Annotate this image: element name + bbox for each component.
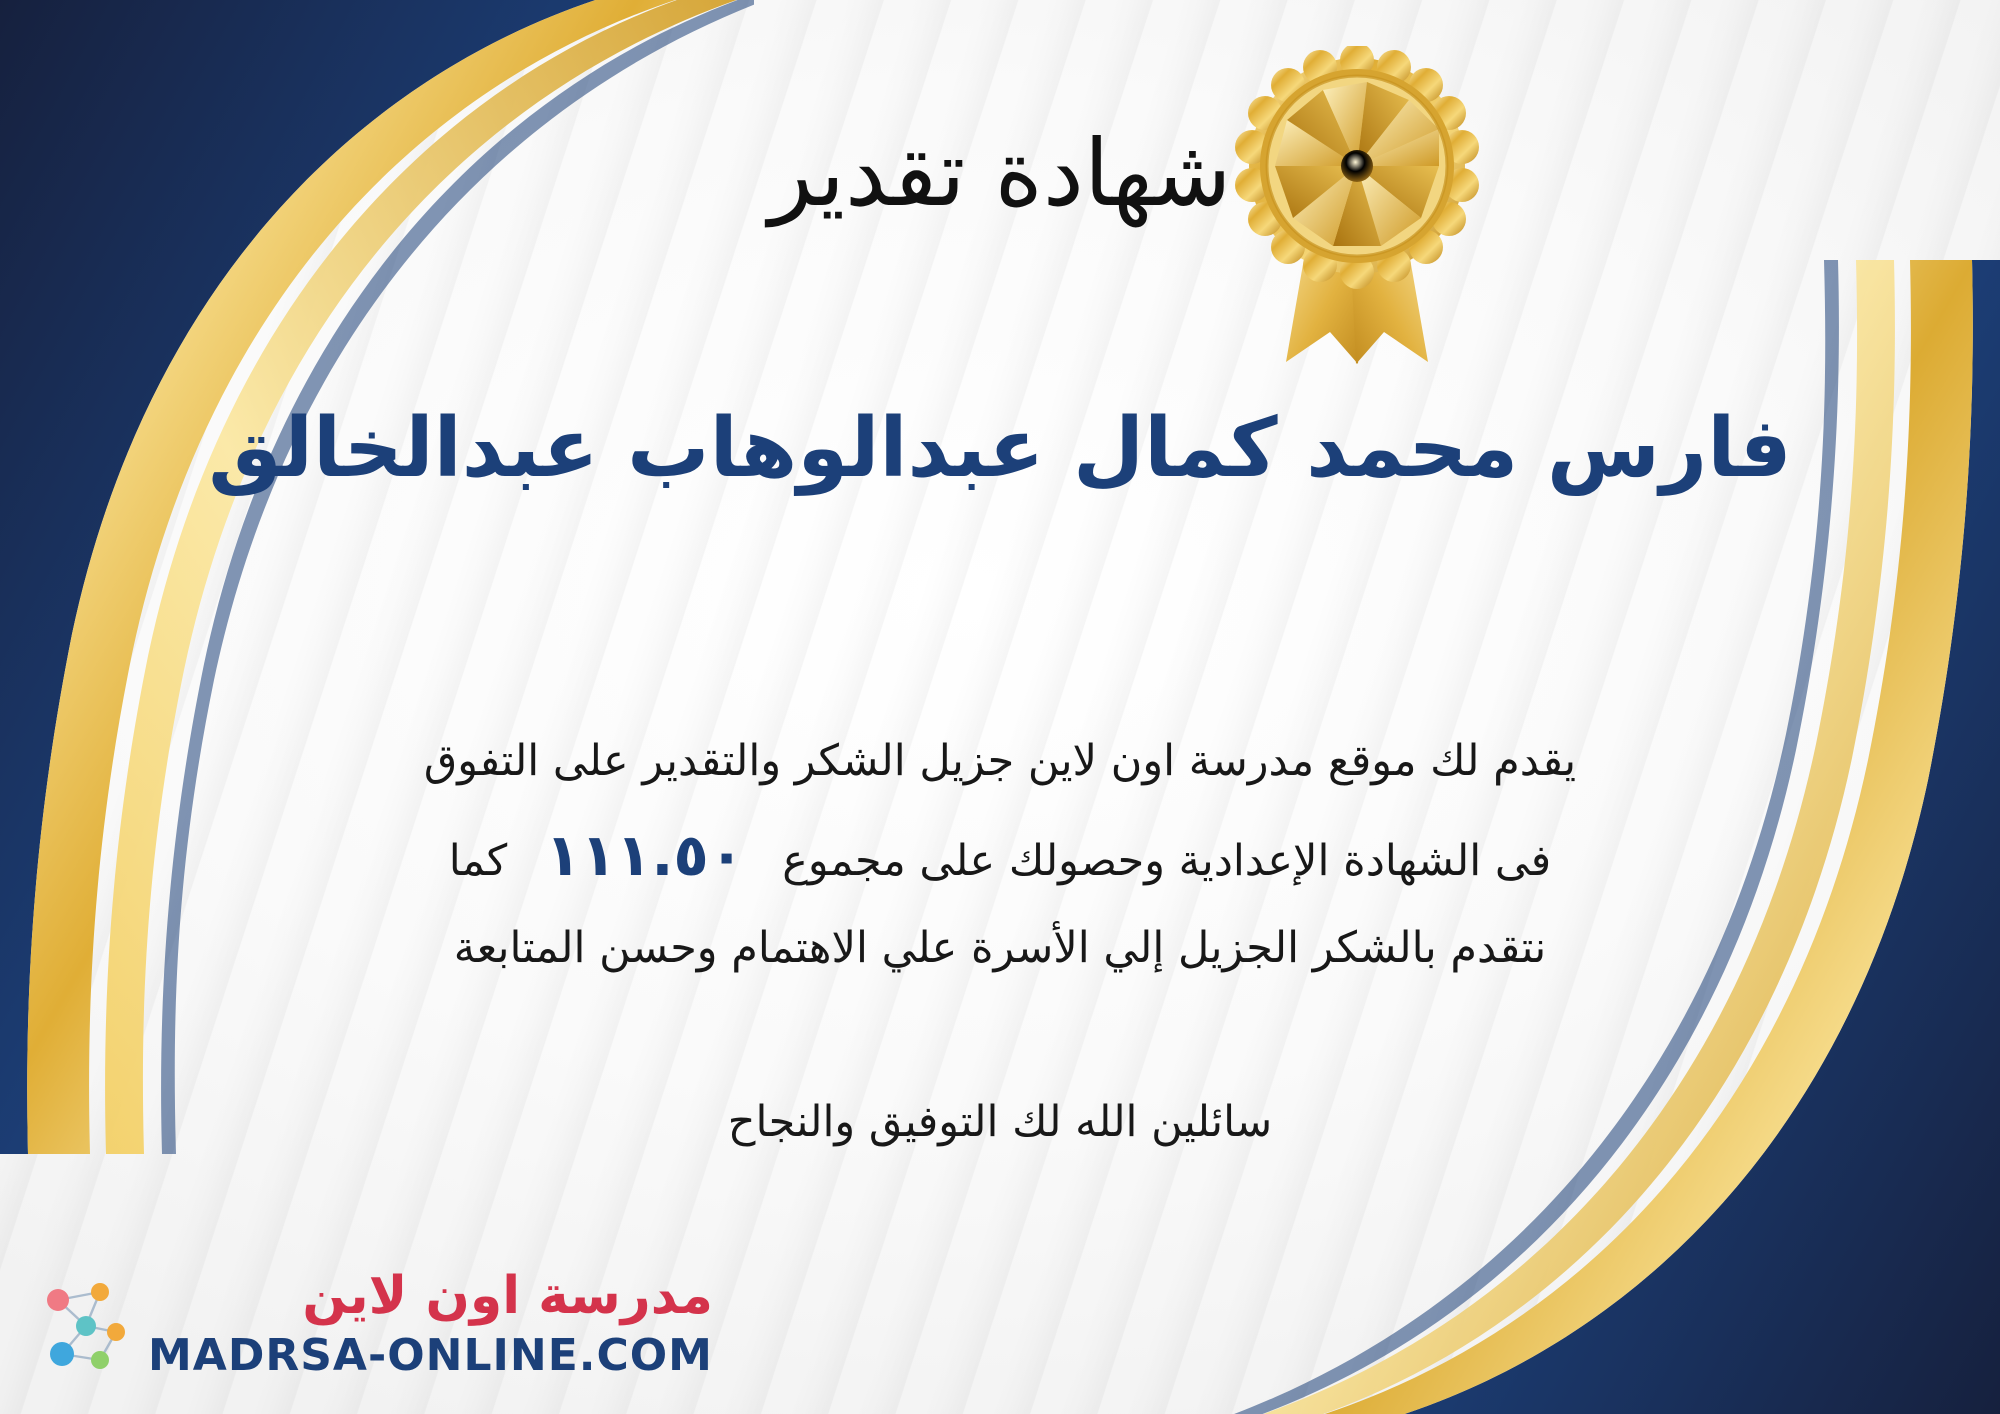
brand-text: مدرسة اون لاين MADRSA-ONLINE.COM xyxy=(148,1270,713,1378)
brand-name-arabic: مدرسة اون لاين xyxy=(302,1270,713,1322)
body-line-1: يقدم لك موقع مدرسة اون لاين جزيل الشكر و… xyxy=(210,722,1790,802)
network-nodes-icon xyxy=(28,1270,136,1378)
body-line-3: نتقدم بالشكر الجزيل إلي الأسرة علي الاهت… xyxy=(210,909,1790,989)
brand-logo[interactable]: مدرسة اون لاين MADRSA-ONLINE.COM xyxy=(28,1270,713,1378)
recipient-name: فارس محمد كمال عبدالوهاب عبدالخالق xyxy=(60,402,1940,496)
certificate-page: شهادة تقدير فارس محمد كمال عبدالوهاب عبد… xyxy=(0,0,2000,1414)
body-line-2: فى الشهادة الإعدادية وحصولك على مجموع ١١… xyxy=(210,802,1790,909)
body-line-2-left: كما xyxy=(449,822,507,902)
brand-domain: MADRSA-ONLINE.COM xyxy=(148,1334,713,1378)
page-title: شهادة تقدير xyxy=(0,122,2000,225)
body-line-2-right: فى الشهادة الإعدادية وحصولك على مجموع xyxy=(782,822,1551,902)
score-value: ١١١.٥٠ xyxy=(507,802,782,909)
closing-line: سائلين الله لك التوفيق والنجاح xyxy=(210,1088,1790,1157)
certificate-body: يقدم لك موقع مدرسة اون لاين جزيل الشكر و… xyxy=(210,722,1790,988)
